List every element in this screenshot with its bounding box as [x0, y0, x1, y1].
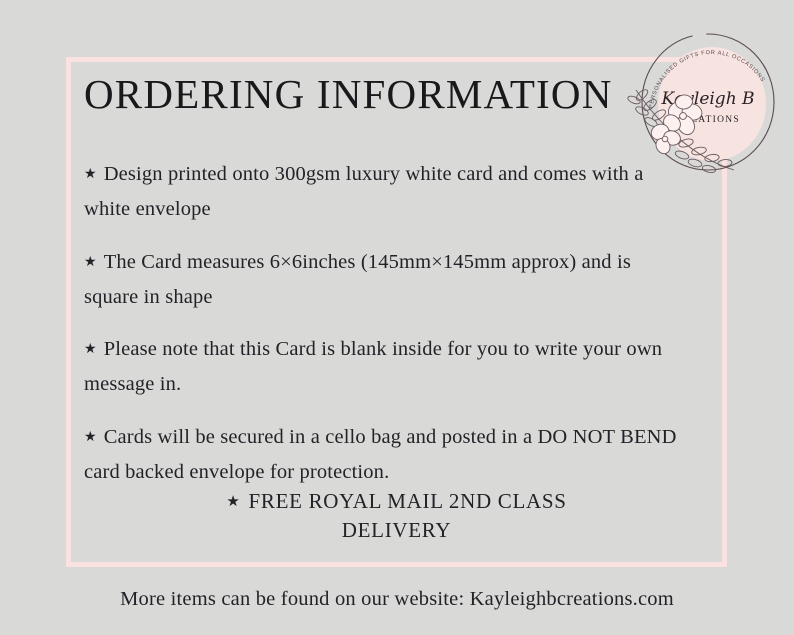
free-delivery-callout: ★FREE ROYAL MAIL 2ND CLASS DELIVERY [66, 487, 727, 544]
website-footer: More items can be found on our website: … [0, 588, 794, 611]
list-item-text: Please note that this Card is blank insi… [84, 338, 662, 395]
star-bullet-icon: ★ [84, 426, 97, 450]
star-bullet-icon: ★ [226, 494, 240, 510]
list-item: ★Cards will be secured in a cello bag an… [84, 420, 684, 491]
list-item-text: The Card measures 6×6inches (145mm×145mm… [84, 251, 631, 308]
ordering-information-card: ORDERING INFORMATION ★Design printed ont… [0, 0, 794, 635]
list-item: ★Design printed onto 300gsm luxury white… [84, 157, 684, 228]
delivery-text-1: FREE ROYAL MAIL 2ND CLASS [249, 489, 567, 513]
list-item-text: Cards will be secured in a cello bag and… [84, 426, 677, 483]
star-bullet-icon: ★ [84, 251, 97, 275]
delivery-line-1: ★FREE ROYAL MAIL 2ND CLASS [66, 487, 727, 516]
delivery-line-2: DELIVERY [66, 516, 727, 545]
list-item: ★The Card measures 6×6inches (145mm×145m… [84, 245, 684, 316]
brand-logo: PERSONALISED GIFTS FOR ALL OCCASIONS Kay… [620, 12, 792, 190]
info-bullet-list: ★Design printed onto 300gsm luxury white… [84, 157, 684, 507]
list-item: ★Please note that this Card is blank ins… [84, 332, 684, 403]
star-bullet-icon: ★ [84, 163, 97, 187]
page-title: ORDERING INFORMATION [84, 72, 624, 117]
star-bullet-icon: ★ [84, 338, 97, 362]
list-item-text: Design printed onto 300gsm luxury white … [84, 163, 643, 220]
